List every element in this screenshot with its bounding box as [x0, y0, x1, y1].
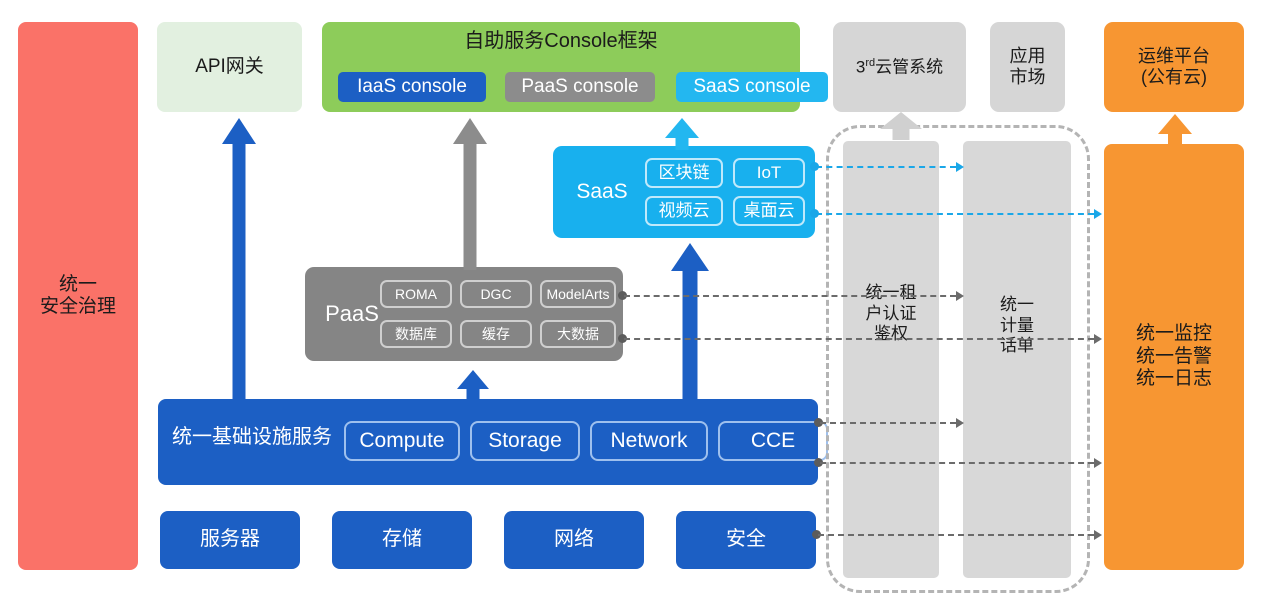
saas-console-chip[interactable]: SaaS console	[676, 72, 828, 102]
hardware-card-server: 服务器	[160, 511, 300, 569]
saas-chip-blockchain[interactable]: 区块链	[645, 158, 723, 188]
saas-chip-video-cloud[interactable]: 视频云	[645, 196, 723, 226]
connector-arrowhead-saas-to-metering	[956, 162, 964, 172]
connector-line-iaas-to-metering	[820, 422, 956, 424]
architecture-diagram: 统一 安全治理 API网关 自助服务Console框架 IaaS console…	[0, 0, 1265, 605]
third-party-cloud-management-label: 3rd云管系统	[856, 57, 943, 78]
unified-monitoring-label: 统一监控 统一告警 统一日志	[1136, 323, 1212, 390]
connector-line-saas-to-ops	[816, 213, 1094, 215]
arrow-iaas-to-saas	[671, 243, 709, 401]
application-market-label: 应用 市场	[1010, 46, 1046, 88]
unified-security-governance-label: 统一 安全治理	[40, 274, 116, 319]
paas-console-chip[interactable]: PaaS console	[505, 72, 655, 102]
iaas-chip-cce[interactable]: CCE	[718, 421, 828, 461]
arrow-saas-to-console	[665, 118, 699, 150]
iaas-console-chip[interactable]: IaaS console	[338, 72, 486, 102]
ops-platform-label: 运维平台 (公有云)	[1138, 46, 1210, 88]
ops-platform-card: 运维平台 (公有云)	[1104, 22, 1244, 112]
connector-line-security-to-ops	[818, 534, 1094, 536]
paas-chip-dgc[interactable]: DGC	[460, 280, 532, 308]
connector-arrowhead-paas-to-ops	[1094, 334, 1102, 344]
paas-layer: PaaS ROMA DGC ModelArts 数据库 缓存 大数据	[305, 267, 623, 361]
unified-monitoring-column: 统一监控 统一告警 统一日志	[1104, 144, 1244, 570]
saas-chip-iot[interactable]: IoT	[733, 158, 805, 188]
hardware-card-network: 网络	[504, 511, 644, 569]
arrow-paas-to-console	[453, 118, 487, 270]
arrow-iaas-to-api-gateway	[222, 118, 256, 401]
console-frame-title: 自助服务Console框架	[322, 30, 800, 54]
connector-line-paas-to-ops	[624, 338, 1094, 340]
iaas-layer-label: 统一基础设施服务	[172, 426, 332, 450]
hardware-card-storage: 存储	[332, 511, 472, 569]
unified-tenant-auth-label: 统一租 户认证 鉴权	[843, 283, 939, 345]
arrow-ops-column-to-ops-platform	[1158, 114, 1192, 146]
unified-tenant-auth-column	[843, 141, 939, 578]
saas-layer-label: SaaS	[567, 180, 637, 205]
connector-line-iaas-to-ops	[820, 462, 1094, 464]
arrow-iaas-to-paas	[456, 370, 490, 401]
connector-arrowhead-iaas-to-ops	[1094, 458, 1102, 468]
connector-line-paas-to-metering	[624, 295, 956, 297]
connector-arrowhead-saas-to-ops	[1094, 209, 1102, 219]
unified-metering-column	[963, 141, 1071, 578]
paas-chip-modelarts[interactable]: ModelArts	[540, 280, 616, 308]
saas-layer: SaaS 区块链 IoT 视频云 桌面云	[553, 146, 815, 238]
iaas-layer: 统一基础设施服务 Compute Storage Network CCE	[158, 399, 818, 485]
paas-chip-roma[interactable]: ROMA	[380, 280, 452, 308]
third-party-cloud-management-card: 3rd云管系统	[833, 22, 966, 112]
iaas-chip-network[interactable]: Network	[590, 421, 708, 461]
paas-chip-bigdata[interactable]: 大数据	[540, 320, 616, 348]
unified-security-governance-pillar: 统一 安全治理	[18, 22, 138, 570]
unified-metering-label: 统一 计量 话单	[963, 295, 1071, 357]
api-gateway-label: API网关	[195, 56, 264, 78]
paas-chip-cache[interactable]: 缓存	[460, 320, 532, 348]
iaas-chip-storage[interactable]: Storage	[470, 421, 580, 461]
connector-line-saas-to-metering	[816, 166, 956, 168]
api-gateway-card: API网关	[157, 22, 302, 112]
self-service-console-frame: 自助服务Console框架 IaaS console PaaS console …	[322, 22, 800, 112]
paas-layer-label: PaaS	[315, 301, 389, 327]
application-market-card: 应用 市场	[990, 22, 1065, 112]
connector-arrowhead-paas-to-metering	[956, 291, 964, 301]
connector-arrowhead-iaas-to-metering	[956, 418, 964, 428]
iaas-chip-compute[interactable]: Compute	[344, 421, 460, 461]
saas-chip-desktop-cloud[interactable]: 桌面云	[733, 196, 805, 226]
arrow-zone-to-third-cloud	[880, 112, 922, 138]
paas-chip-database[interactable]: 数据库	[380, 320, 452, 348]
connector-arrowhead-security-to-ops	[1094, 530, 1102, 540]
hardware-card-security: 安全	[676, 511, 816, 569]
